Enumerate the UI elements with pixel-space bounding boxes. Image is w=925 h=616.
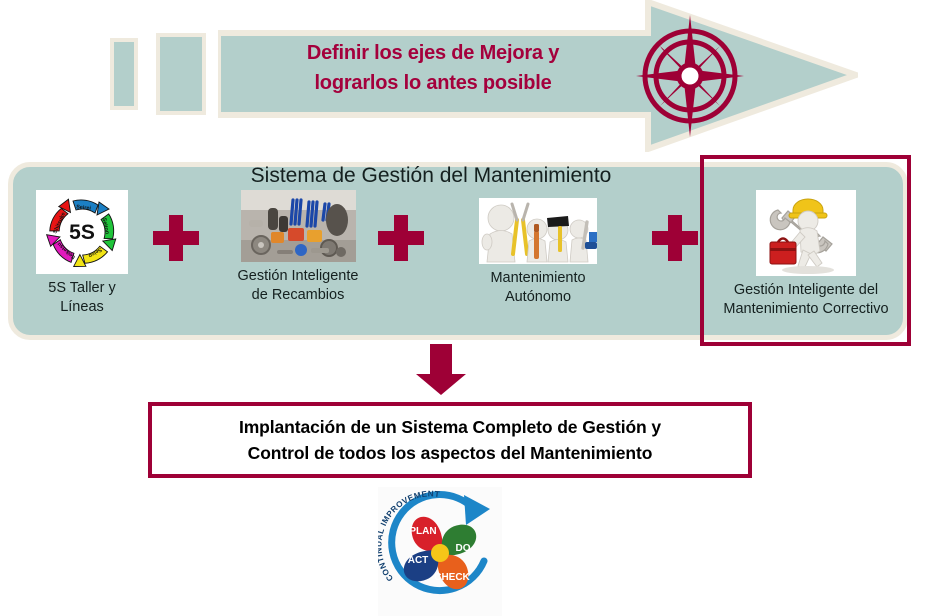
maintenance-crew-photo [479, 198, 597, 264]
plus-operator-icon-2 [378, 215, 424, 261]
svg-text:DO: DO [456, 543, 471, 554]
svg-text:5S: 5S [69, 221, 95, 244]
banner-headline-line2: lograrlos lo antes posible [248, 68, 618, 98]
pillar-spare-parts-label-line2: de Recambios [204, 286, 392, 305]
pillar-5s-label-line2: Líneas [8, 298, 156, 317]
svg-text:ACT: ACT [408, 555, 429, 566]
pillar-autonomous-maintenance[interactable]: Mantenimiento Autónomo [438, 190, 638, 307]
svg-text:CHECK: CHECK [434, 572, 470, 583]
spare-parts-photo [241, 190, 356, 262]
five-s-cycle-icon: Seirei Seiton Seiso Seiketsu Shitsuke 5S [36, 190, 128, 274]
pdca-continual-improvement-icon: CONTINUAL IMPROVEMENT PLAN DO CHECK ACT [378, 487, 502, 616]
result-line2: Control de todos los aspectos del Manten… [239, 440, 661, 466]
result-text: Implantación de un Sistema Completo de G… [239, 414, 661, 466]
headline-banner: Definir los ejes de Mejora y lograrlos l… [0, 0, 925, 152]
down-arrow-icon [414, 344, 468, 396]
banner-tick-bar-2 [156, 33, 206, 115]
pillar-autonomous-label-line1: Mantenimiento [438, 269, 638, 288]
banner-headline: Definir los ejes de Mejora y lograrlos l… [248, 38, 618, 98]
pillar-autonomous-maintenance-label: Mantenimiento Autónomo [438, 269, 638, 307]
svg-text:PLAN: PLAN [409, 526, 436, 537]
pillar-5s-label-line1: 5S Taller y [8, 279, 156, 298]
compass-rose-icon [636, 13, 744, 139]
result-box: Implantación de un Sistema Completo de G… [148, 402, 752, 478]
pillar-5s[interactable]: Seirei Seiton Seiso Seiketsu Shitsuke 5S… [8, 190, 156, 317]
result-line1: Implantación de un Sistema Completo de G… [239, 414, 661, 440]
pillar-spare-parts[interactable]: Gestión Inteligente de Recambios [204, 190, 392, 305]
pillar-5s-label: 5S Taller y Líneas [8, 279, 156, 317]
pillar-spare-parts-label-line1: Gestión Inteligente [204, 267, 392, 286]
pillar-spare-parts-label: Gestión Inteligente de Recambios [204, 267, 392, 305]
plus-operator-icon-3 [652, 215, 698, 261]
banner-headline-line1: Definir los ejes de Mejora y [248, 38, 618, 68]
banner-tick-bar-1 [110, 38, 138, 110]
plus-operator-icon-1 [153, 215, 199, 261]
pillar-autonomous-label-line2: Autónomo [438, 288, 638, 307]
corrective-maintenance-highlight-box [700, 155, 911, 346]
